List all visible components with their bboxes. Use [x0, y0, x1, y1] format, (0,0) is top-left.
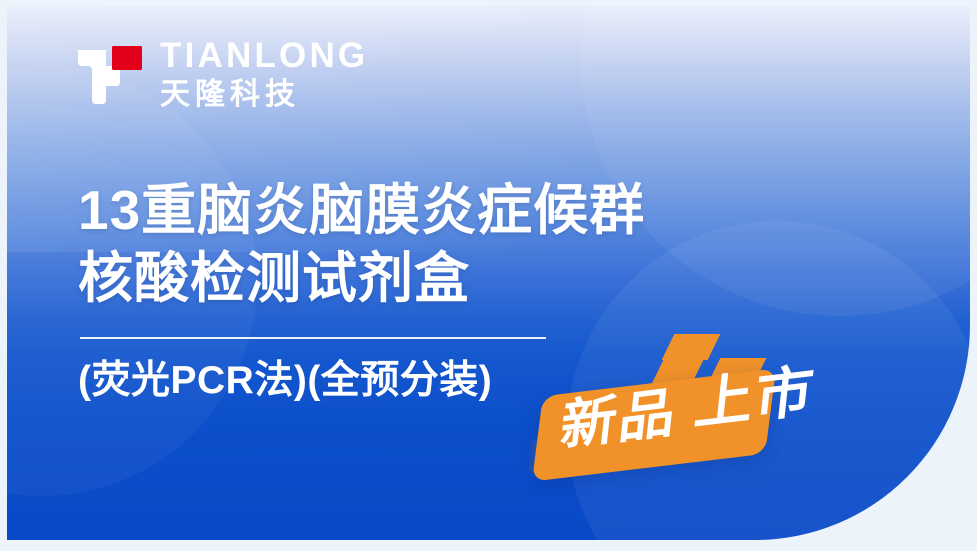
- new-product-badge: 新品 上市: [518, 330, 878, 495]
- brand-logo: TIANLONG 天隆科技: [76, 36, 368, 110]
- subtitle: (荧光PCR法)(全预分装): [78, 358, 492, 405]
- headline-divider: [80, 337, 546, 339]
- headline: 13重脑炎脑膜炎症候群 核酸检测试剂盒: [78, 176, 645, 312]
- tianlong-t-mark-icon: [76, 36, 144, 104]
- brand-logo-text: TIANLONG 天隆科技: [160, 36, 368, 110]
- brand-name-cn: 天隆科技: [160, 80, 368, 110]
- brand-name-en: TIANLONG: [160, 38, 368, 73]
- promo-banner: TIANLONG 天隆科技 13重脑炎脑膜炎症候群 核酸检测试剂盒 (荧光PCR…: [0, 0, 977, 551]
- badge-label-launch: 上市: [692, 363, 819, 434]
- badge-accent-icon-1: [662, 334, 721, 360]
- headline-line-1: 13重脑炎脑膜炎症候群: [78, 176, 645, 244]
- badge-label-new: 新品: [558, 385, 680, 453]
- headline-line-2: 核酸检测试剂盒: [78, 244, 645, 312]
